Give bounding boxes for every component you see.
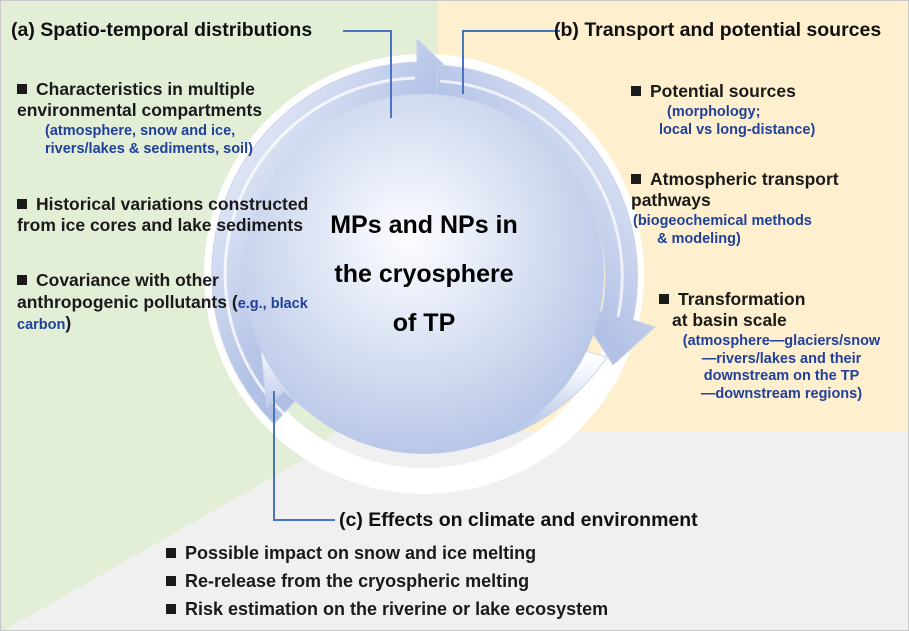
- bullet-b2-sub-2: & modeling): [631, 231, 909, 248]
- bullet-b1-sub-2: local vs long-distance): [631, 122, 909, 139]
- bullet-square-icon: [166, 548, 176, 558]
- bullet-c2: Re-release from the cryospheric melting: [185, 571, 529, 591]
- list-item: Potential sources (morphology; local vs …: [631, 81, 909, 139]
- bullet-square-icon: [631, 174, 641, 184]
- leader-line-a-horizontal: [343, 30, 391, 32]
- bullet-b3-main-1: Transformation: [678, 289, 805, 309]
- section-b-title: (b) Transport and potential sources: [554, 19, 881, 42]
- list-item: Characteristics in multiple environmenta…: [17, 79, 317, 158]
- section-c-bullets: Possible impact on snow and ice melting …: [166, 543, 866, 631]
- bullet-square-icon: [659, 294, 669, 304]
- leader-line-c-horizontal: [273, 519, 335, 521]
- center-title-line-1: MPs and NPs in: [330, 213, 518, 238]
- bullet-a1-main: Characteristics in multiple environmenta…: [17, 79, 262, 120]
- bullet-square-icon: [17, 84, 27, 94]
- center-title-line-2: the cryosphere: [334, 262, 513, 287]
- leader-line-c-vertical: [273, 391, 275, 520]
- bullet-b3-main-2: at basin scale: [653, 310, 909, 331]
- list-item: Atmospheric transport pathways (biogeoch…: [631, 169, 909, 248]
- leader-line-b-horizontal: [462, 30, 560, 32]
- bullet-b1-sub-1: (morphology;: [631, 104, 909, 121]
- bullet-square-icon: [166, 576, 176, 586]
- leader-line-a-vertical: [390, 30, 392, 118]
- figure-canvas: MPs and NPs in the cryosphere of TP (a) …: [0, 0, 909, 631]
- section-b-bullet-3: Transformation at basin scale (atmospher…: [653, 289, 909, 417]
- bullet-a3-tail: ): [65, 313, 71, 333]
- bullet-c3: Risk estimation on the riverine or lake …: [185, 599, 608, 619]
- bullet-b3-sub-3: downstream on the TP: [653, 368, 909, 385]
- section-a-bullets: Characteristics in multiple environmenta…: [17, 79, 317, 348]
- list-item: Transformation at basin scale (atmospher…: [653, 289, 909, 403]
- bullet-a1-sub: (atmosphere, snow and ice, rivers/lakes …: [17, 123, 317, 158]
- bullet-b2-sub-1: (biogeochemical methods: [631, 213, 909, 230]
- list-item: Risk estimation on the riverine or lake …: [166, 599, 866, 621]
- bullet-b2-main: Atmospheric transport pathways: [631, 169, 839, 210]
- section-b-bullets: Potential sources (morphology; local vs …: [631, 81, 909, 274]
- bullet-b1-main: Potential sources: [650, 81, 796, 101]
- list-item: Covariance with other anthropogenic poll…: [17, 270, 317, 334]
- list-item: Possible impact on snow and ice melting: [166, 543, 866, 565]
- leader-line-b-vertical: [462, 30, 464, 94]
- list-item: Re-release from the cryospheric melting: [166, 571, 866, 593]
- bullet-square-icon: [631, 86, 641, 96]
- bullet-a3-main: Covariance with other anthropogenic poll…: [17, 270, 238, 311]
- list-item: Historical variations constructed from i…: [17, 194, 317, 236]
- center-title-line-3: of TP: [393, 311, 456, 336]
- bullet-a2-main: Historical variations constructed from i…: [17, 194, 308, 235]
- bullet-square-icon: [17, 275, 27, 285]
- bullet-b3-sub-2: —rivers/lakes and their: [653, 351, 909, 368]
- bullet-b3-sub-1: (atmosphere—glaciers/snow: [653, 333, 909, 350]
- section-a-title: (a) Spatio-temporal distributions: [11, 19, 312, 42]
- section-c-title: (c) Effects on climate and environment: [339, 509, 698, 532]
- bullet-b3-sub-4: —downstream regions): [653, 386, 909, 403]
- bullet-square-icon: [166, 604, 176, 614]
- bullet-square-icon: [17, 199, 27, 209]
- bullet-c1: Possible impact on snow and ice melting: [185, 543, 536, 563]
